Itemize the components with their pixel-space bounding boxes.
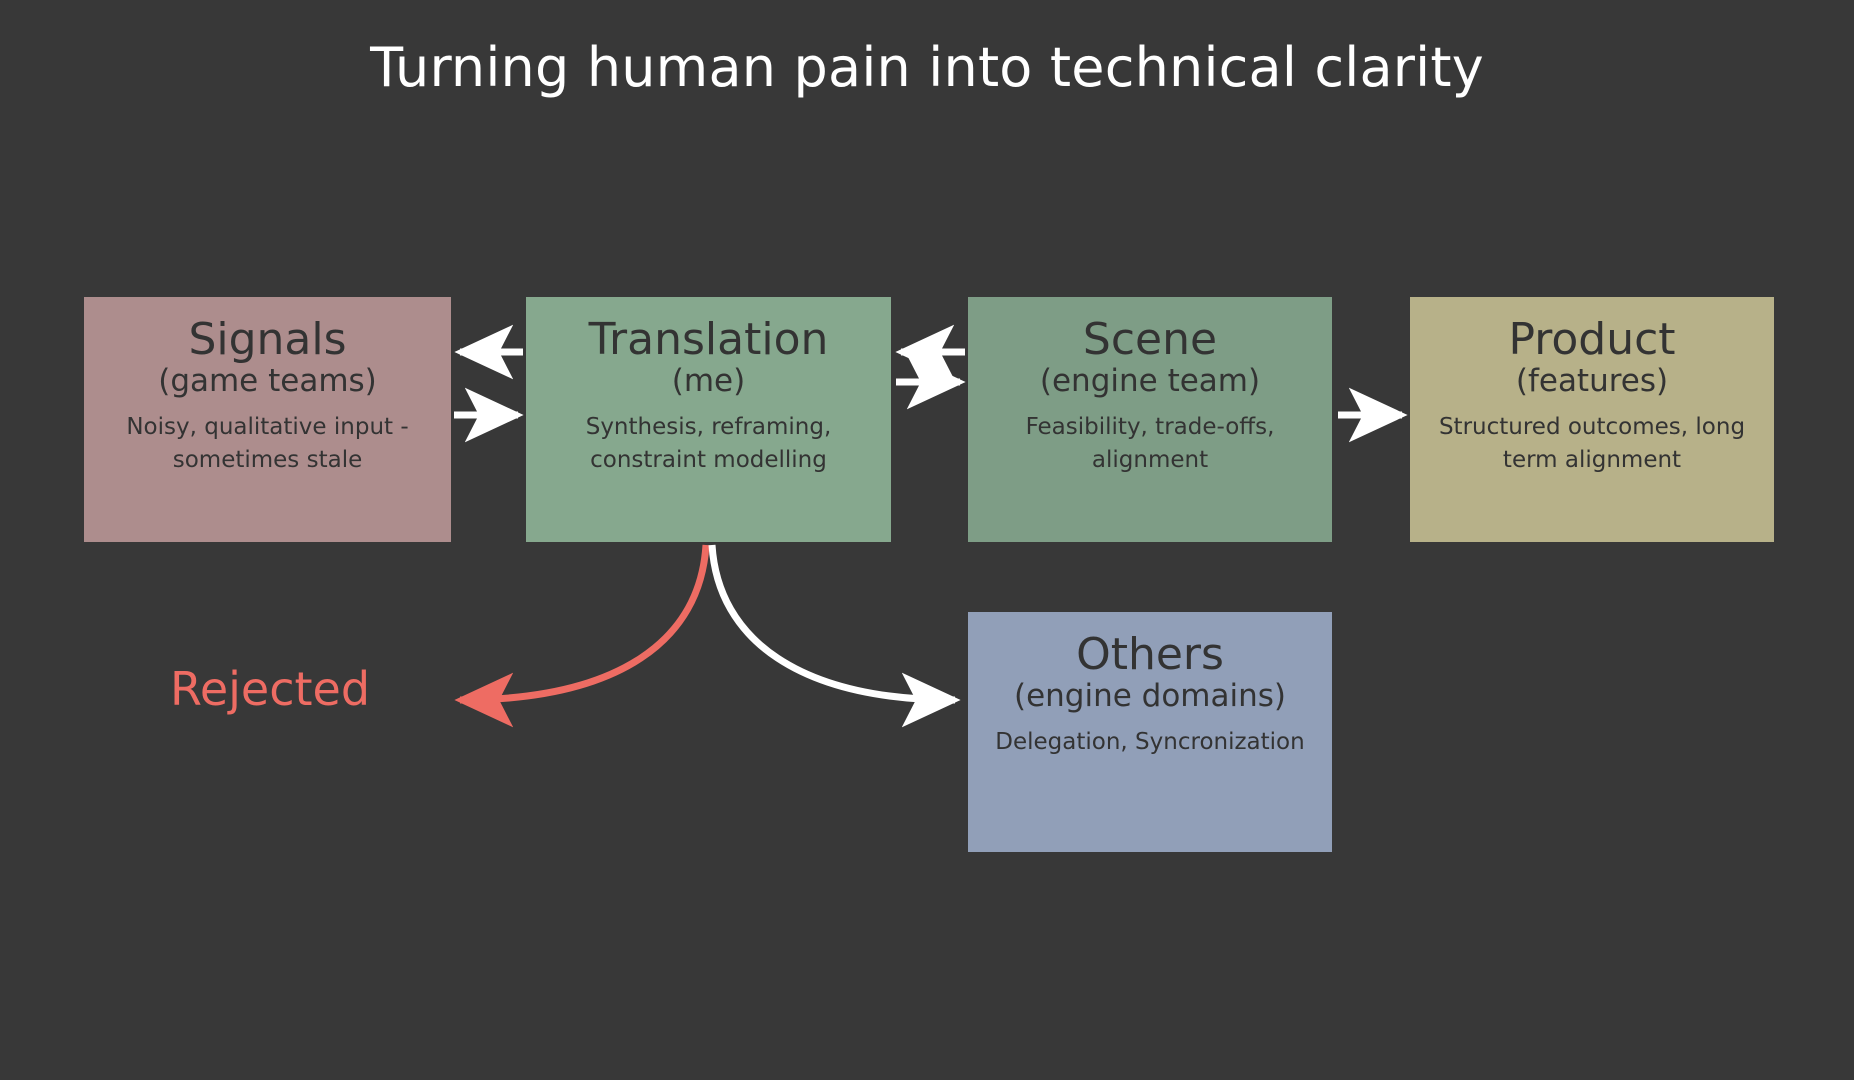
node-others-subtitle: (engine domains)	[1014, 679, 1286, 714]
node-translation[interactable]: Translation (me) Synthesis, reframing, c…	[526, 297, 891, 542]
node-scene-description: Feasibility, trade-offs, alignment	[968, 411, 1332, 476]
node-signals-subtitle: (game teams)	[158, 364, 377, 399]
node-translation-title: Translation	[589, 317, 829, 363]
diagram-canvas: Turning human pain into technical clarit…	[0, 0, 1854, 1080]
node-translation-description: Synthesis, reframing, constraint modelli…	[526, 411, 891, 476]
page-title: Turning human pain into technical clarit…	[0, 38, 1854, 97]
edge-translation-to-rejected	[460, 545, 706, 700]
node-signals-description: Noisy, qualitative input - sometimes sta…	[84, 411, 451, 476]
node-product-title: Product	[1508, 317, 1675, 363]
node-others-description: Delegation, Syncronization	[983, 726, 1316, 759]
node-others-title: Others	[1076, 632, 1224, 678]
edge-translation-to-others	[712, 545, 955, 700]
node-product-description: Structured outcomes, long term alignment	[1410, 411, 1774, 476]
node-product[interactable]: Product (features) Structured outcomes, …	[1410, 297, 1774, 542]
node-signals[interactable]: Signals (game teams) Noisy, qualitative …	[84, 297, 451, 542]
node-translation-subtitle: (me)	[672, 364, 745, 399]
node-others[interactable]: Others (engine domains) Delegation, Sync…	[968, 612, 1332, 852]
rejected-label: Rejected	[150, 665, 390, 713]
node-scene-title: Scene	[1083, 317, 1217, 363]
node-scene-subtitle: (engine team)	[1040, 364, 1260, 399]
node-product-subtitle: (features)	[1516, 364, 1668, 399]
node-signals-title: Signals	[188, 317, 346, 363]
node-scene[interactable]: Scene (engine team) Feasibility, trade-o…	[968, 297, 1332, 542]
